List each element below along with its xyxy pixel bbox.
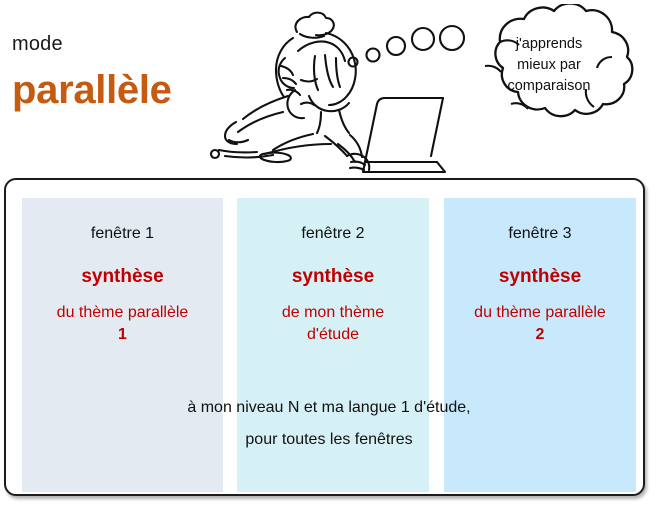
- column-2-synthese: synthèse: [237, 266, 429, 288]
- column-2-desc-line1: de mon thème: [241, 302, 425, 324]
- thought-cloud-icon: j'apprends mieux par comparaison: [444, 4, 654, 134]
- column-1-description: du thème parallèle 1: [22, 302, 223, 346]
- column-3-synthese: synthèse: [444, 266, 636, 288]
- column-2-description: de mon thème d'étude: [237, 302, 429, 346]
- window-column-1[interactable]: fenêtre 1 synthèse du thème parallèle 1: [22, 198, 223, 492]
- bubble-line-1: j'apprends: [444, 34, 654, 55]
- column-3-description: du thème parallèle 2: [444, 302, 636, 346]
- column-3-desc-line1: du thème parallèle: [448, 302, 632, 324]
- column-2-header: fenêtre 2: [237, 224, 429, 244]
- windows-panel: fenêtre 1 synthèse du thème parallèle 1 …: [4, 178, 645, 496]
- column-3-desc-line2: 2: [448, 324, 632, 346]
- window-column-3[interactable]: fenêtre 3 synthèse du thème parallèle 2: [444, 198, 636, 492]
- thought-bubble-text: j'apprends mieux par comparaison: [444, 34, 654, 97]
- bubble-line-2: mieux par: [444, 55, 654, 76]
- column-1-desc-line1: du thème parallèle: [26, 302, 219, 324]
- column-1-header: fenêtre 1: [22, 224, 223, 244]
- column-3-header: fenêtre 3: [444, 224, 636, 244]
- column-2-desc-line2: d'étude: [241, 324, 425, 346]
- column-1-synthese: synthèse: [22, 266, 223, 288]
- header-area: mode parallèle: [0, 0, 657, 178]
- bubble-line-3: comparaison: [444, 76, 654, 97]
- mode-label: mode: [12, 33, 63, 56]
- page-title: parallèle: [12, 68, 172, 113]
- window-column-2[interactable]: fenêtre 2 synthèse de mon thème d'étude: [237, 198, 429, 492]
- column-1-desc-line2: 1: [26, 324, 219, 346]
